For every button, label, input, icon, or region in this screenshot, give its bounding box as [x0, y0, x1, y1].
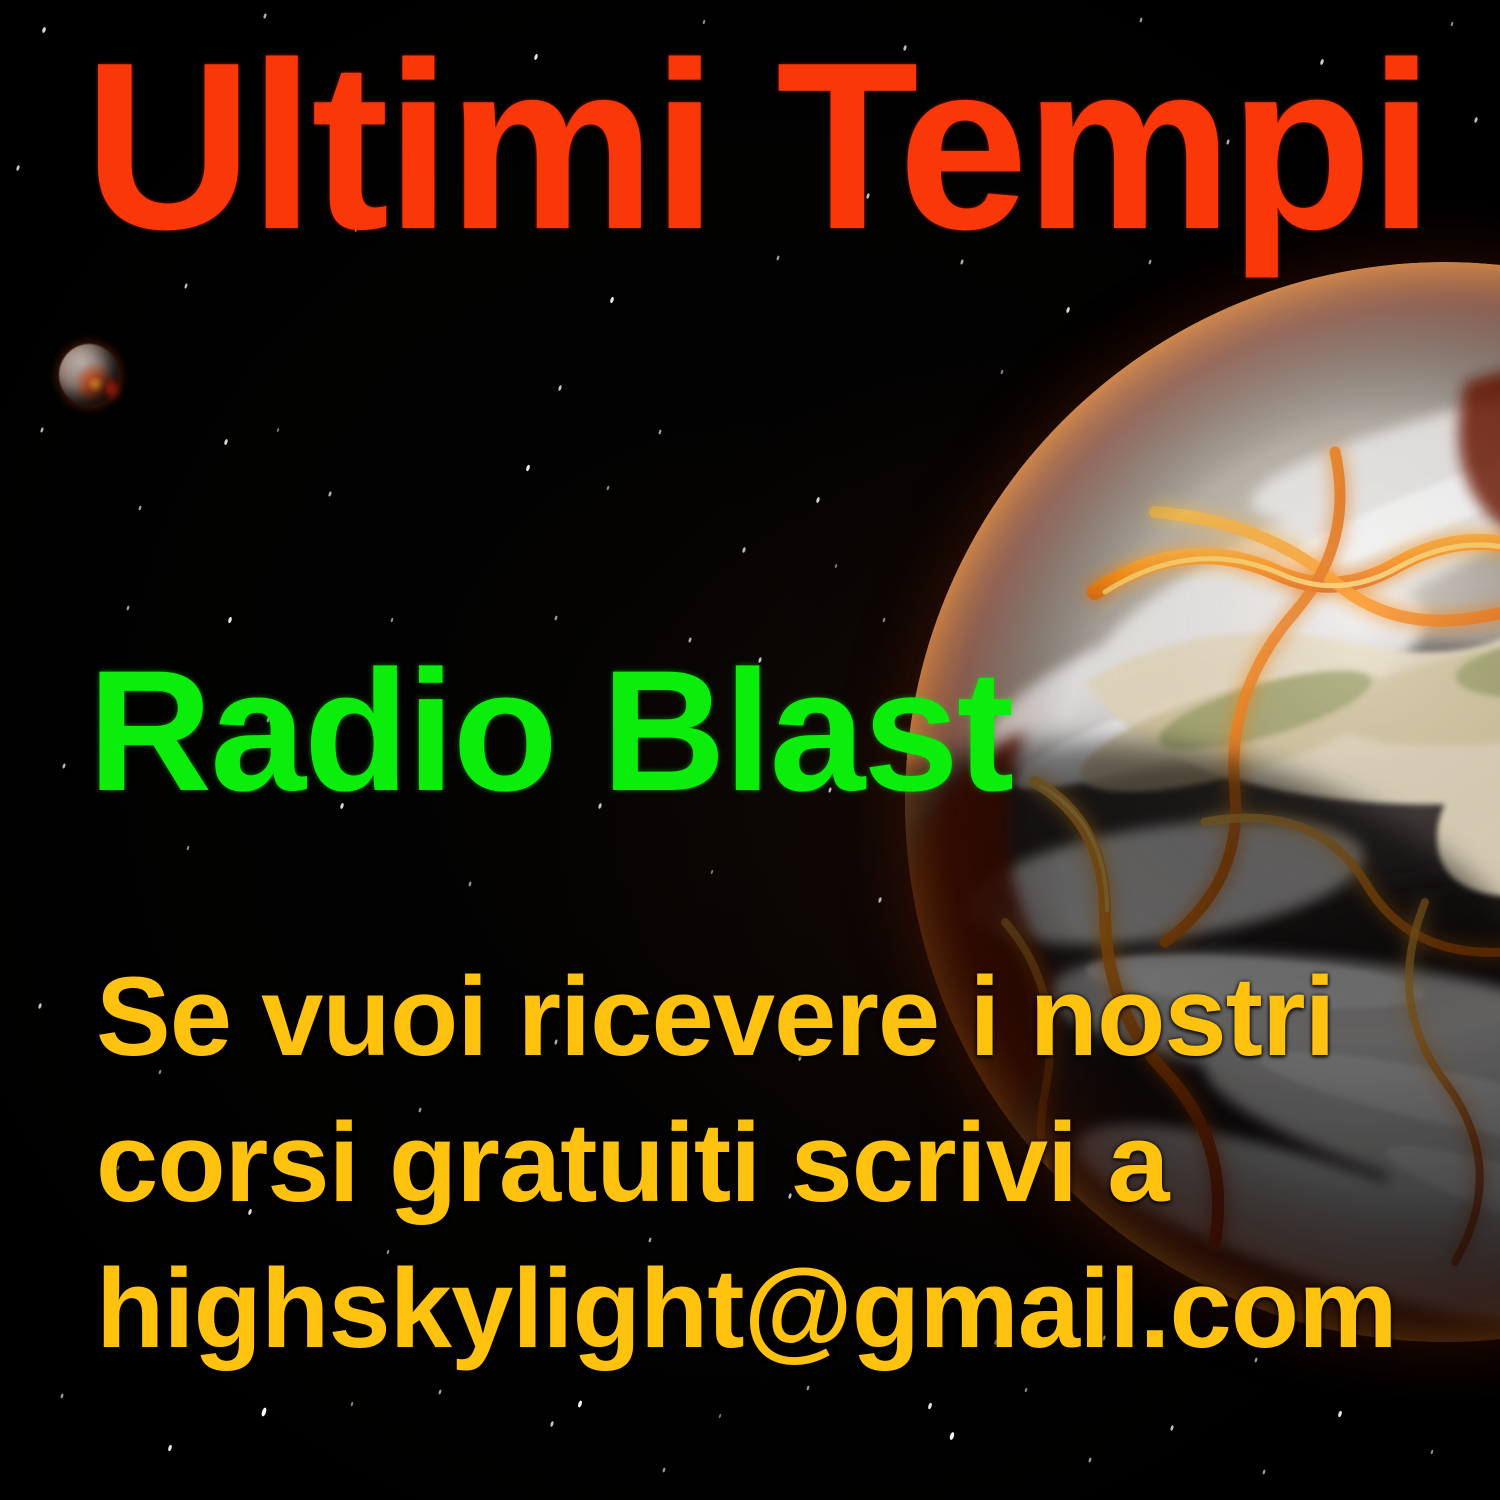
text-layer: Ultimi Tempi Radio Blast Se vuoi ricever…: [0, 0, 1500, 1500]
page-title: Ultimi Tempi: [84, 28, 1436, 266]
contact-email: highskylight@gmail.com: [96, 1236, 1496, 1382]
show-subtitle: Radio Blast: [88, 645, 1012, 817]
contact-message: Se vuoi ricevere i nostri corsi gratuiti…: [96, 944, 1496, 1382]
contact-line-1: Se vuoi ricevere i nostri: [96, 944, 1496, 1090]
contact-line-2: corsi gratuiti scrivi a: [96, 1090, 1496, 1236]
podcast-cover-art: Ultimi Tempi Radio Blast Se vuoi ricever…: [0, 0, 1500, 1500]
